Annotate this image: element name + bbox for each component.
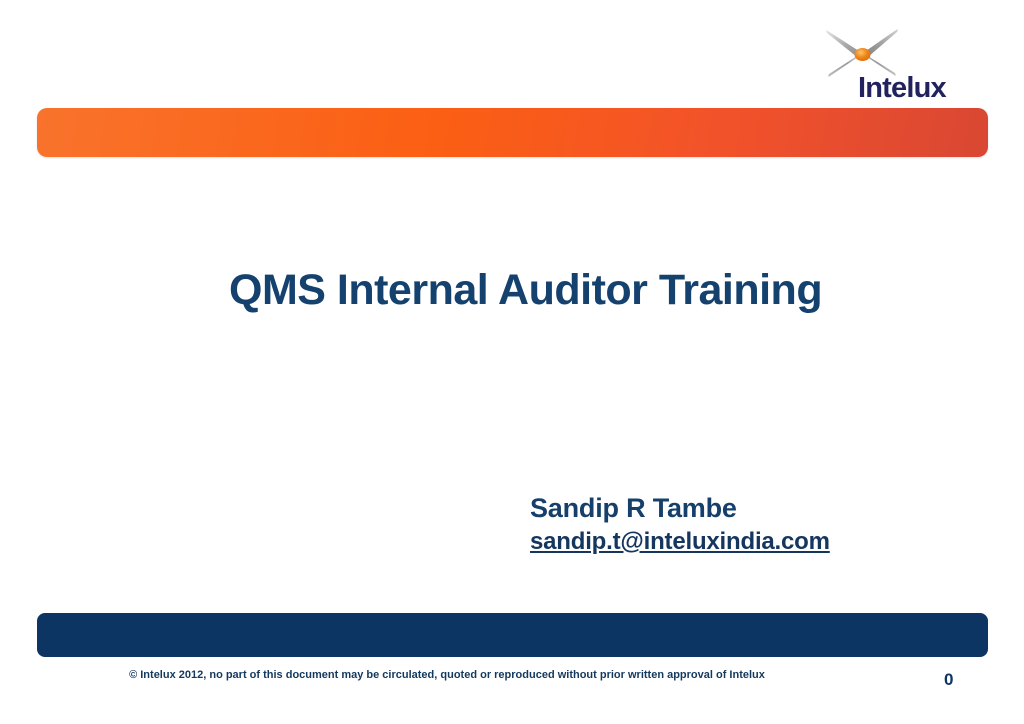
slide-title: QMS Internal Auditor Training — [229, 267, 929, 314]
bottom-accent-bar — [37, 613, 988, 657]
logo-wordmark: Intelux — [858, 74, 946, 103]
presenter-email-link[interactable]: sandip.t@inteluxindia.com — [530, 529, 830, 555]
footer-copyright: © Intelux 2012, no part of this document… — [0, 669, 1024, 682]
top-accent-bar — [37, 108, 988, 157]
propeller-icon — [824, 26, 900, 78]
presenter-name: Sandip R Tambe — [530, 494, 737, 524]
slide-canvas: Intelux Efficiency in Power QMS Internal… — [0, 0, 1024, 724]
intelux-logo: Intelux Efficiency in Power — [818, 26, 994, 106]
page-number: 0 — [944, 671, 953, 688]
